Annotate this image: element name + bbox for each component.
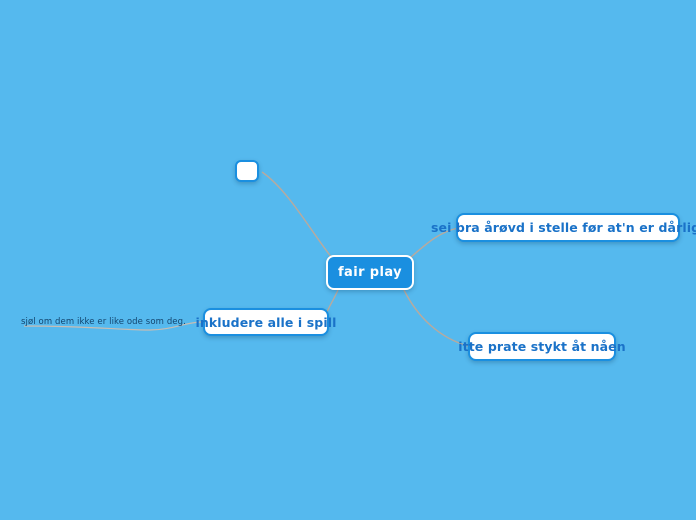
connector-root-to-empty: [262, 172, 332, 258]
mindmap-node-branch-2-label: itte prate stykt åt nåen: [458, 339, 626, 354]
mindmap-node-branch-3[interactable]: inkludere alle i spill: [203, 308, 329, 336]
mindmap-node-branch-2[interactable]: itte prate stykt åt nåen: [468, 332, 616, 361]
mindmap-node-empty[interactable]: [235, 160, 259, 182]
mindmap-annotation-label[interactable]: sjøl om dem ikke er like ode som deg.: [21, 317, 186, 327]
mindmap-node-root[interactable]: fair play: [326, 255, 414, 290]
mindmap-canvas[interactable]: fair play sei bra årøvd i stelle før at'…: [0, 0, 696, 520]
mindmap-node-branch-3-label: inkludere alle i spill: [196, 315, 337, 330]
mindmap-node-branch-1-label: sei bra årøvd i stelle før at'n er dårli…: [431, 220, 696, 235]
mindmap-node-root-label: fair play: [338, 265, 402, 280]
connector-root-to-branch-2: [404, 290, 468, 346]
mindmap-node-branch-1[interactable]: sei bra årøvd i stelle før at'n er dårli…: [456, 213, 680, 242]
